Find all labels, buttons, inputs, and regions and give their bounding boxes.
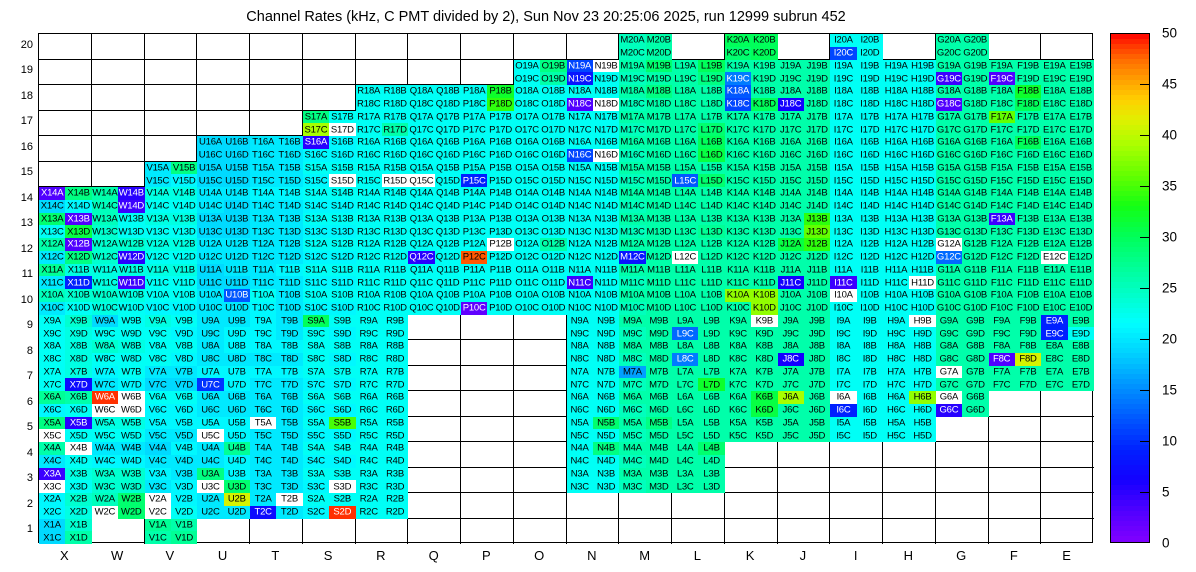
channel-cell[interactable]: N18B: [593, 85, 619, 98]
channel-cell[interactable]: N13B: [593, 213, 619, 226]
channel-cell[interactable]: U4A: [197, 442, 223, 455]
channel-cell[interactable]: O18B: [540, 85, 566, 98]
channel-cell[interactable]: X11D: [65, 276, 91, 289]
channel-cell[interactable]: N9D: [593, 327, 619, 340]
channel-cell[interactable]: X6C: [39, 404, 65, 417]
channel-cell[interactable]: I14A: [830, 187, 856, 200]
channel-cell[interactable]: T16D: [276, 149, 302, 162]
channel-cell[interactable]: H5D: [909, 429, 935, 442]
channel-cell[interactable]: S14D: [329, 200, 355, 213]
channel-cell[interactable]: L7D: [698, 378, 724, 391]
channel-cell[interactable]: V13C: [145, 225, 171, 238]
channel-cell[interactable]: I5C: [830, 429, 856, 442]
channel-cell[interactable]: L14A: [672, 187, 698, 200]
channel-cell[interactable]: G9C: [936, 327, 962, 340]
channel-cell[interactable]: X14D: [65, 200, 91, 213]
channel-cell[interactable]: O11B: [540, 264, 566, 277]
channel-cell[interactable]: J6A: [778, 391, 804, 404]
channel-cell[interactable]: E18B: [1068, 85, 1094, 98]
channel-cell[interactable]: S17B: [329, 111, 355, 124]
channel-cell[interactable]: T9B: [276, 315, 302, 328]
channel-cell[interactable]: R5A: [356, 417, 382, 430]
channel-cell[interactable]: I10C: [830, 302, 856, 315]
channel-cell[interactable]: X3B: [65, 468, 91, 481]
channel-cell[interactable]: K20B: [751, 34, 777, 47]
channel-cell[interactable]: X5D: [65, 429, 91, 442]
channel-cell[interactable]: F19D: [1015, 72, 1041, 85]
channel-cell[interactable]: M10C: [619, 302, 645, 315]
channel-cell[interactable]: G20D: [962, 47, 988, 60]
channel-cell[interactable]: X7B: [65, 366, 91, 379]
channel-cell[interactable]: X8B: [65, 340, 91, 353]
channel-cell[interactable]: U2B: [224, 493, 250, 506]
channel-cell[interactable]: G6C: [936, 404, 962, 417]
channel-cell[interactable]: X9D: [65, 327, 91, 340]
channel-cell[interactable]: G16D: [962, 149, 988, 162]
channel-cell[interactable]: R2A: [356, 493, 382, 506]
channel-cell[interactable]: O13D: [540, 225, 566, 238]
channel-cell[interactable]: L8C: [672, 353, 698, 366]
channel-cell[interactable]: R8D: [382, 353, 408, 366]
channel-cell[interactable]: K9D: [751, 327, 777, 340]
channel-cell[interactable]: U12A: [197, 238, 223, 251]
channel-cell[interactable]: G20B: [962, 34, 988, 47]
channel-cell[interactable]: I12C: [830, 251, 856, 264]
channel-cell[interactable]: H13A: [883, 213, 909, 226]
channel-cell[interactable]: N8A: [567, 340, 593, 353]
channel-cell[interactable]: X11B: [65, 264, 91, 277]
channel-cell[interactable]: X11A: [39, 264, 65, 277]
channel-cell[interactable]: R3A: [356, 468, 382, 481]
channel-cell[interactable]: K14C: [725, 200, 751, 213]
channel-cell[interactable]: U4D: [224, 455, 250, 468]
channel-cell[interactable]: F18A: [989, 85, 1015, 98]
channel-cell[interactable]: V4D: [171, 455, 197, 468]
channel-cell[interactable]: M9B: [646, 315, 672, 328]
channel-cell[interactable]: M6C: [619, 404, 645, 417]
channel-cell[interactable]: T7D: [276, 378, 302, 391]
channel-cell[interactable]: J12D: [804, 251, 830, 264]
channel-cell[interactable]: L4D: [698, 455, 724, 468]
channel-cell[interactable]: I12A: [830, 238, 856, 251]
channel-cell[interactable]: T7C: [250, 378, 276, 391]
channel-cell[interactable]: M8C: [619, 353, 645, 366]
channel-cell[interactable]: J6D: [804, 404, 830, 417]
channel-cell[interactable]: J13A: [778, 213, 804, 226]
channel-cell[interactable]: J8C: [778, 353, 804, 366]
channel-cell[interactable]: F10B: [1015, 289, 1041, 302]
channel-cell[interactable]: W7D: [118, 378, 144, 391]
channel-cell[interactable]: E8A: [1041, 340, 1067, 353]
channel-cell[interactable]: K7C: [725, 378, 751, 391]
channel-cell[interactable]: U7B: [224, 366, 250, 379]
channel-cell[interactable]: I18C: [830, 98, 856, 111]
channel-cell[interactable]: R13C: [356, 225, 382, 238]
channel-cell[interactable]: K10D: [751, 302, 777, 315]
channel-cell[interactable]: F7A: [989, 366, 1015, 379]
channel-cell[interactable]: L19D: [698, 72, 724, 85]
channel-cell[interactable]: E11C: [1041, 276, 1067, 289]
channel-cell[interactable]: G11C: [936, 276, 962, 289]
channel-cell[interactable]: O10D: [540, 302, 566, 315]
channel-cell[interactable]: W11B: [118, 264, 144, 277]
channel-cell[interactable]: T12A: [250, 238, 276, 251]
channel-cell[interactable]: K11B: [751, 264, 777, 277]
channel-cell[interactable]: M13B: [646, 213, 672, 226]
channel-cell[interactable]: O14A: [514, 187, 540, 200]
channel-cell[interactable]: M3B: [646, 468, 672, 481]
channel-cell[interactable]: W13D: [118, 225, 144, 238]
channel-cell[interactable]: H18B: [909, 85, 935, 98]
channel-cell[interactable]: P15C: [461, 174, 487, 187]
channel-cell[interactable]: I19C: [830, 72, 856, 85]
channel-cell[interactable]: P12A: [461, 238, 487, 251]
channel-cell[interactable]: N10D: [593, 302, 619, 315]
channel-cell[interactable]: V12B: [171, 238, 197, 251]
channel-cell[interactable]: H12A: [883, 238, 909, 251]
channel-cell[interactable]: K8C: [725, 353, 751, 366]
channel-cell[interactable]: O16C: [514, 149, 540, 162]
channel-cell[interactable]: E12B: [1068, 238, 1094, 251]
channel-cell[interactable]: M8B: [646, 340, 672, 353]
channel-cell[interactable]: N5B: [593, 417, 619, 430]
channel-cell[interactable]: I14D: [857, 200, 883, 213]
channel-cell[interactable]: J17A: [778, 111, 804, 124]
channel-cell[interactable]: L13B: [698, 213, 724, 226]
channel-cell[interactable]: J8D: [804, 353, 830, 366]
channel-cell[interactable]: J16C: [778, 149, 804, 162]
channel-cell[interactable]: J18A: [778, 85, 804, 98]
channel-cell[interactable]: E17A: [1041, 111, 1067, 124]
channel-cell[interactable]: F15B: [1015, 162, 1041, 175]
channel-cell[interactable]: L12C: [672, 251, 698, 264]
channel-cell[interactable]: R9C: [356, 327, 382, 340]
channel-cell[interactable]: S9B: [329, 315, 355, 328]
channel-cell[interactable]: S4B: [329, 442, 355, 455]
channel-cell[interactable]: N5D: [593, 429, 619, 442]
channel-cell[interactable]: J18B: [804, 85, 830, 98]
channel-cell[interactable]: E18C: [1041, 98, 1067, 111]
channel-cell[interactable]: P13C: [461, 225, 487, 238]
channel-cell[interactable]: O15D: [540, 174, 566, 187]
channel-cell[interactable]: Q13A: [408, 213, 434, 226]
channel-cell[interactable]: E15D: [1068, 174, 1094, 187]
channel-cell[interactable]: N9C: [567, 327, 593, 340]
channel-cell[interactable]: U13B: [224, 213, 250, 226]
channel-cell[interactable]: V5C: [145, 429, 171, 442]
channel-cell[interactable]: Q11B: [435, 264, 461, 277]
channel-cell[interactable]: Q18C: [408, 98, 434, 111]
channel-cell[interactable]: M16A: [619, 136, 645, 149]
channel-cell[interactable]: W2B: [118, 493, 144, 506]
channel-cell[interactable]: I9B: [857, 315, 883, 328]
channel-cell[interactable]: K16B: [751, 136, 777, 149]
channel-cell[interactable]: R7C: [356, 378, 382, 391]
channel-cell[interactable]: N16B: [593, 136, 619, 149]
channel-cell[interactable]: M12C: [619, 251, 645, 264]
channel-cell[interactable]: E9C: [1041, 327, 1067, 340]
channel-cell[interactable]: R11C: [356, 276, 382, 289]
channel-cell[interactable]: E19C: [1041, 72, 1067, 85]
channel-cell[interactable]: K11C: [725, 276, 751, 289]
channel-cell[interactable]: X7D: [65, 378, 91, 391]
channel-cell[interactable]: M20D: [646, 47, 672, 60]
channel-cell[interactable]: J9D: [804, 327, 830, 340]
channel-cell[interactable]: G18B: [962, 85, 988, 98]
channel-cell[interactable]: M16B: [646, 136, 672, 149]
channel-cell[interactable]: S13B: [329, 213, 355, 226]
channel-cell[interactable]: L7B: [698, 366, 724, 379]
channel-cell[interactable]: E16B: [1068, 136, 1094, 149]
channel-cell[interactable]: K6C: [725, 404, 751, 417]
channel-cell[interactable]: I19B: [857, 60, 883, 73]
channel-cell[interactable]: M6B: [646, 391, 672, 404]
channel-cell[interactable]: G12D: [962, 251, 988, 264]
channel-cell[interactable]: R13B: [382, 213, 408, 226]
channel-cell[interactable]: F16D: [1015, 149, 1041, 162]
channel-cell[interactable]: N16A: [567, 136, 593, 149]
channel-cell[interactable]: S16D: [329, 149, 355, 162]
channel-cell[interactable]: S2A: [303, 493, 329, 506]
channel-cell[interactable]: X10A: [39, 289, 65, 302]
channel-cell[interactable]: Q14D: [435, 200, 461, 213]
channel-cell[interactable]: H19A: [883, 60, 909, 73]
channel-cell[interactable]: H15B: [909, 162, 935, 175]
channel-cell[interactable]: E14B: [1068, 187, 1094, 200]
channel-cell[interactable]: F16A: [989, 136, 1015, 149]
channel-cell[interactable]: U3B: [224, 468, 250, 481]
channel-cell[interactable]: J17C: [778, 123, 804, 136]
channel-cell[interactable]: U5C: [197, 429, 223, 442]
channel-cell[interactable]: L18C: [672, 98, 698, 111]
channel-cell[interactable]: M18B: [646, 85, 672, 98]
channel-cell[interactable]: W7A: [92, 366, 118, 379]
channel-cell[interactable]: H14C: [883, 200, 909, 213]
channel-cell[interactable]: F7B: [1015, 366, 1041, 379]
channel-cell[interactable]: V7C: [145, 378, 171, 391]
channel-cell[interactable]: E7B: [1068, 366, 1094, 379]
channel-cell[interactable]: I14B: [857, 187, 883, 200]
channel-cell[interactable]: M20A: [619, 34, 645, 47]
channel-cell[interactable]: I11A: [830, 264, 856, 277]
channel-cell[interactable]: N15C: [567, 174, 593, 187]
channel-cell[interactable]: I17C: [830, 123, 856, 136]
channel-cell[interactable]: H18A: [883, 85, 909, 98]
channel-cell[interactable]: L4A: [672, 442, 698, 455]
channel-cell[interactable]: F19C: [989, 72, 1015, 85]
channel-cell[interactable]: W5D: [118, 429, 144, 442]
channel-cell[interactable]: T4C: [250, 455, 276, 468]
channel-cell[interactable]: R4B: [382, 442, 408, 455]
channel-cell[interactable]: G12A: [936, 238, 962, 251]
channel-cell[interactable]: W4B: [118, 442, 144, 455]
channel-cell[interactable]: S6A: [303, 391, 329, 404]
channel-cell[interactable]: E18D: [1068, 98, 1094, 111]
channel-cell[interactable]: J19A: [778, 60, 804, 73]
channel-cell[interactable]: F13D: [1015, 225, 1041, 238]
channel-cell[interactable]: Q17A: [408, 111, 434, 124]
channel-cell[interactable]: G7C: [936, 378, 962, 391]
channel-cell[interactable]: X5C: [39, 429, 65, 442]
channel-cell[interactable]: T7B: [276, 366, 302, 379]
channel-cell[interactable]: U8D: [224, 353, 250, 366]
channel-cell[interactable]: W11A: [92, 264, 118, 277]
channel-cell[interactable]: K6A: [725, 391, 751, 404]
channel-cell[interactable]: W13C: [92, 225, 118, 238]
channel-cell[interactable]: W9A: [92, 315, 118, 328]
channel-cell[interactable]: L5C: [672, 429, 698, 442]
channel-cell[interactable]: S2C: [303, 506, 329, 519]
channel-cell[interactable]: R7B: [382, 366, 408, 379]
channel-cell[interactable]: T16A: [250, 136, 276, 149]
channel-cell[interactable]: M20C: [619, 47, 645, 60]
channel-cell[interactable]: P14D: [487, 200, 513, 213]
channel-cell[interactable]: F18D: [1015, 98, 1041, 111]
channel-cell[interactable]: E16A: [1041, 136, 1067, 149]
channel-cell[interactable]: F7C: [989, 378, 1015, 391]
channel-cell[interactable]: F17D: [1015, 123, 1041, 136]
channel-cell[interactable]: E17B: [1068, 111, 1094, 124]
channel-cell[interactable]: X6B: [65, 391, 91, 404]
channel-cell[interactable]: H9B: [909, 315, 935, 328]
channel-cell[interactable]: L18A: [672, 85, 698, 98]
channel-cell[interactable]: X2D: [65, 506, 91, 519]
channel-cell[interactable]: U6C: [197, 404, 223, 417]
channel-cell[interactable]: X13A: [39, 213, 65, 226]
channel-cell[interactable]: W8D: [118, 353, 144, 366]
channel-cell[interactable]: K10A: [725, 289, 751, 302]
channel-cell[interactable]: T14A: [250, 187, 276, 200]
channel-cell[interactable]: X4A: [39, 442, 65, 455]
channel-cell[interactable]: K18D: [751, 98, 777, 111]
channel-cell[interactable]: Q10D: [435, 302, 461, 315]
channel-cell[interactable]: V8D: [171, 353, 197, 366]
channel-cell[interactable]: U15C: [197, 174, 223, 187]
channel-cell[interactable]: X14C: [39, 200, 65, 213]
channel-cell[interactable]: N13C: [567, 225, 593, 238]
channel-cell[interactable]: L16C: [672, 149, 698, 162]
channel-cell[interactable]: R13D: [382, 225, 408, 238]
channel-cell[interactable]: S13D: [329, 225, 355, 238]
channel-cell[interactable]: T2B: [276, 493, 302, 506]
channel-cell[interactable]: M11D: [646, 276, 672, 289]
channel-cell[interactable]: S8A: [303, 340, 329, 353]
channel-cell[interactable]: H13B: [909, 213, 935, 226]
channel-cell[interactable]: G6B: [962, 391, 988, 404]
channel-cell[interactable]: J9A: [778, 315, 804, 328]
channel-cell[interactable]: G19C: [936, 72, 962, 85]
channel-cell[interactable]: L5A: [672, 417, 698, 430]
channel-cell[interactable]: I15A: [830, 162, 856, 175]
channel-cell[interactable]: P15A: [461, 162, 487, 175]
channel-cell[interactable]: L13D: [698, 225, 724, 238]
channel-cell[interactable]: S15A: [303, 162, 329, 175]
channel-cell[interactable]: L8A: [672, 340, 698, 353]
channel-cell[interactable]: E17C: [1041, 123, 1067, 136]
channel-cell[interactable]: V2A: [145, 493, 171, 506]
channel-cell[interactable]: V5B: [171, 417, 197, 430]
channel-cell[interactable]: E13D: [1068, 225, 1094, 238]
channel-cell[interactable]: W10D: [118, 302, 144, 315]
channel-cell[interactable]: S3D: [329, 480, 355, 493]
channel-cell[interactable]: H18D: [909, 98, 935, 111]
channel-cell[interactable]: M5B: [646, 417, 672, 430]
channel-cell[interactable]: V4C: [145, 455, 171, 468]
channel-cell[interactable]: E12D: [1068, 251, 1094, 264]
channel-cell[interactable]: O16A: [514, 136, 540, 149]
channel-cell[interactable]: Q15C: [408, 174, 434, 187]
channel-cell[interactable]: L15B: [698, 162, 724, 175]
channel-cell[interactable]: I10B: [857, 289, 883, 302]
channel-cell[interactable]: Q18A: [408, 85, 434, 98]
channel-cell[interactable]: F15D: [1015, 174, 1041, 187]
channel-cell[interactable]: G14C: [936, 200, 962, 213]
channel-cell[interactable]: G14B: [962, 187, 988, 200]
channel-cell[interactable]: J8B: [804, 340, 830, 353]
channel-cell[interactable]: L8D: [698, 353, 724, 366]
channel-cell[interactable]: J6B: [804, 391, 830, 404]
channel-cell[interactable]: X13D: [65, 225, 91, 238]
channel-cell[interactable]: N6B: [593, 391, 619, 404]
channel-cell[interactable]: P10C: [461, 302, 487, 315]
channel-cell[interactable]: N6A: [567, 391, 593, 404]
channel-cell[interactable]: R8C: [356, 353, 382, 366]
channel-cell[interactable]: X8D: [65, 353, 91, 366]
channel-cell[interactable]: T3D: [276, 480, 302, 493]
channel-cell[interactable]: N10C: [567, 302, 593, 315]
channel-cell[interactable]: U3D: [224, 480, 250, 493]
channel-cell[interactable]: K6D: [751, 404, 777, 417]
channel-cell[interactable]: U9C: [197, 327, 223, 340]
channel-cell[interactable]: T8D: [276, 353, 302, 366]
channel-cell[interactable]: K19D: [751, 72, 777, 85]
channel-cell[interactable]: W10A: [92, 289, 118, 302]
channel-cell[interactable]: U14A: [197, 187, 223, 200]
channel-cell[interactable]: N12B: [593, 238, 619, 251]
channel-cell[interactable]: L10B: [698, 289, 724, 302]
channel-cell[interactable]: G10C: [936, 302, 962, 315]
channel-cell[interactable]: R12D: [382, 251, 408, 264]
channel-cell[interactable]: I13A: [830, 213, 856, 226]
channel-cell[interactable]: P18C: [461, 98, 487, 111]
channel-cell[interactable]: V3D: [171, 480, 197, 493]
channel-cell[interactable]: W11C: [92, 276, 118, 289]
channel-cell[interactable]: E8D: [1068, 353, 1094, 366]
channel-cell[interactable]: S14B: [329, 187, 355, 200]
channel-cell[interactable]: E7C: [1041, 378, 1067, 391]
channel-cell[interactable]: X1D: [65, 531, 91, 544]
channel-cell[interactable]: K5D: [751, 429, 777, 442]
channel-cell[interactable]: L15D: [698, 174, 724, 187]
channel-cell[interactable]: N3D: [593, 480, 619, 493]
channel-cell[interactable]: G14D: [962, 200, 988, 213]
channel-cell[interactable]: E19D: [1068, 72, 1094, 85]
channel-cell[interactable]: U14B: [224, 187, 250, 200]
channel-cell[interactable]: T7A: [250, 366, 276, 379]
channel-cell[interactable]: W8B: [118, 340, 144, 353]
channel-cell[interactable]: G8C: [936, 353, 962, 366]
channel-cell[interactable]: N6C: [567, 404, 593, 417]
channel-cell[interactable]: N6D: [593, 404, 619, 417]
channel-cell[interactable]: L14B: [698, 187, 724, 200]
channel-cell[interactable]: W6B: [118, 391, 144, 404]
channel-cell[interactable]: H19C: [883, 72, 909, 85]
channel-cell[interactable]: J13B: [804, 213, 830, 226]
channel-cell[interactable]: K16D: [751, 149, 777, 162]
channel-cell[interactable]: Q13D: [435, 225, 461, 238]
channel-cell[interactable]: T10D: [276, 302, 302, 315]
channel-cell[interactable]: L6B: [698, 391, 724, 404]
